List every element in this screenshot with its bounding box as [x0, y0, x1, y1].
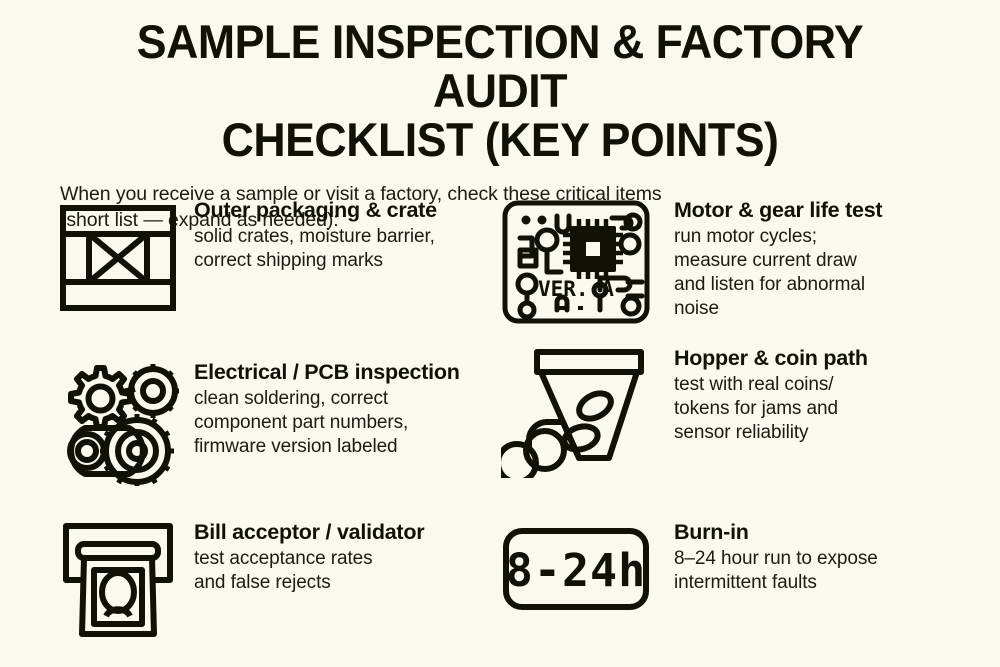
item-description: solid crates, moisture barrier, correct …	[194, 225, 526, 273]
checklist-item-hopper: Hopper & coin path test with real coins/…	[492, 344, 996, 486]
checklist-item-motor-gear: VER. A Motor & gear life test run motor …	[492, 196, 996, 326]
item-title: Outer packaging & crate	[194, 198, 526, 223]
item-title: Hopper & coin path	[674, 346, 996, 371]
bill-acceptor-icon	[56, 518, 180, 640]
item-description: test with real coins/ tokens for jams an…	[674, 373, 996, 445]
timer-display-label: 8-24h	[506, 544, 646, 597]
checklist-item-crate: Outer packaging & crate solid crates, mo…	[56, 196, 526, 326]
checklist-text-burn-in: Burn-in 8–24 hour run to expose intermit…	[674, 518, 996, 595]
infographic-poster: SAMPLE INSPECTION & FACTORY AUDIT CHECKL…	[0, 0, 1000, 667]
item-description: run motor cycles; measure current draw a…	[674, 225, 996, 321]
item-description: test acceptance rates and false rejects	[194, 547, 526, 595]
checklist-text-electrical: Electrical / PCB inspection clean solder…	[194, 358, 526, 459]
checklist-grid: Outer packaging & crate solid crates, mo…	[0, 196, 1000, 640]
checklist-text-motor-gear: Motor & gear life test run motor cycles;…	[674, 196, 996, 321]
item-title: Burn-in	[674, 520, 996, 545]
item-title: Electrical / PCB inspection	[194, 360, 526, 385]
digital-timer-icon: 8-24h	[492, 518, 660, 612]
pcb-version-label: VER. A	[538, 277, 614, 301]
circuit-board-icon: VER. A	[492, 196, 660, 326]
item-title: Motor & gear life test	[674, 198, 996, 223]
checklist-item-electrical: Electrical / PCB inspection clean solder…	[56, 358, 526, 486]
item-description: 8–24 hour run to expose intermittent fau…	[674, 547, 996, 595]
checklist-item-bill-acceptor: Bill acceptor / validator test acceptanc…	[56, 518, 526, 640]
shipping-crate-icon	[56, 196, 180, 312]
item-description: clean soldering, correct component part …	[194, 387, 526, 459]
item-title: Bill acceptor / validator	[194, 520, 526, 545]
checklist-item-burn-in: 8-24h Burn-in 8–24 hour run to expose in…	[492, 518, 996, 640]
checklist-text-bill-acceptor: Bill acceptor / validator test acceptanc…	[194, 518, 526, 595]
page-title: SAMPLE INSPECTION & FACTORY AUDIT CHECKL…	[69, 18, 932, 165]
coin-hopper-icon	[492, 344, 660, 478]
gears-belt-icon	[56, 358, 180, 486]
checklist-text-hopper: Hopper & coin path test with real coins/…	[674, 344, 996, 445]
checklist-text-crate: Outer packaging & crate solid crates, mo…	[194, 196, 526, 273]
